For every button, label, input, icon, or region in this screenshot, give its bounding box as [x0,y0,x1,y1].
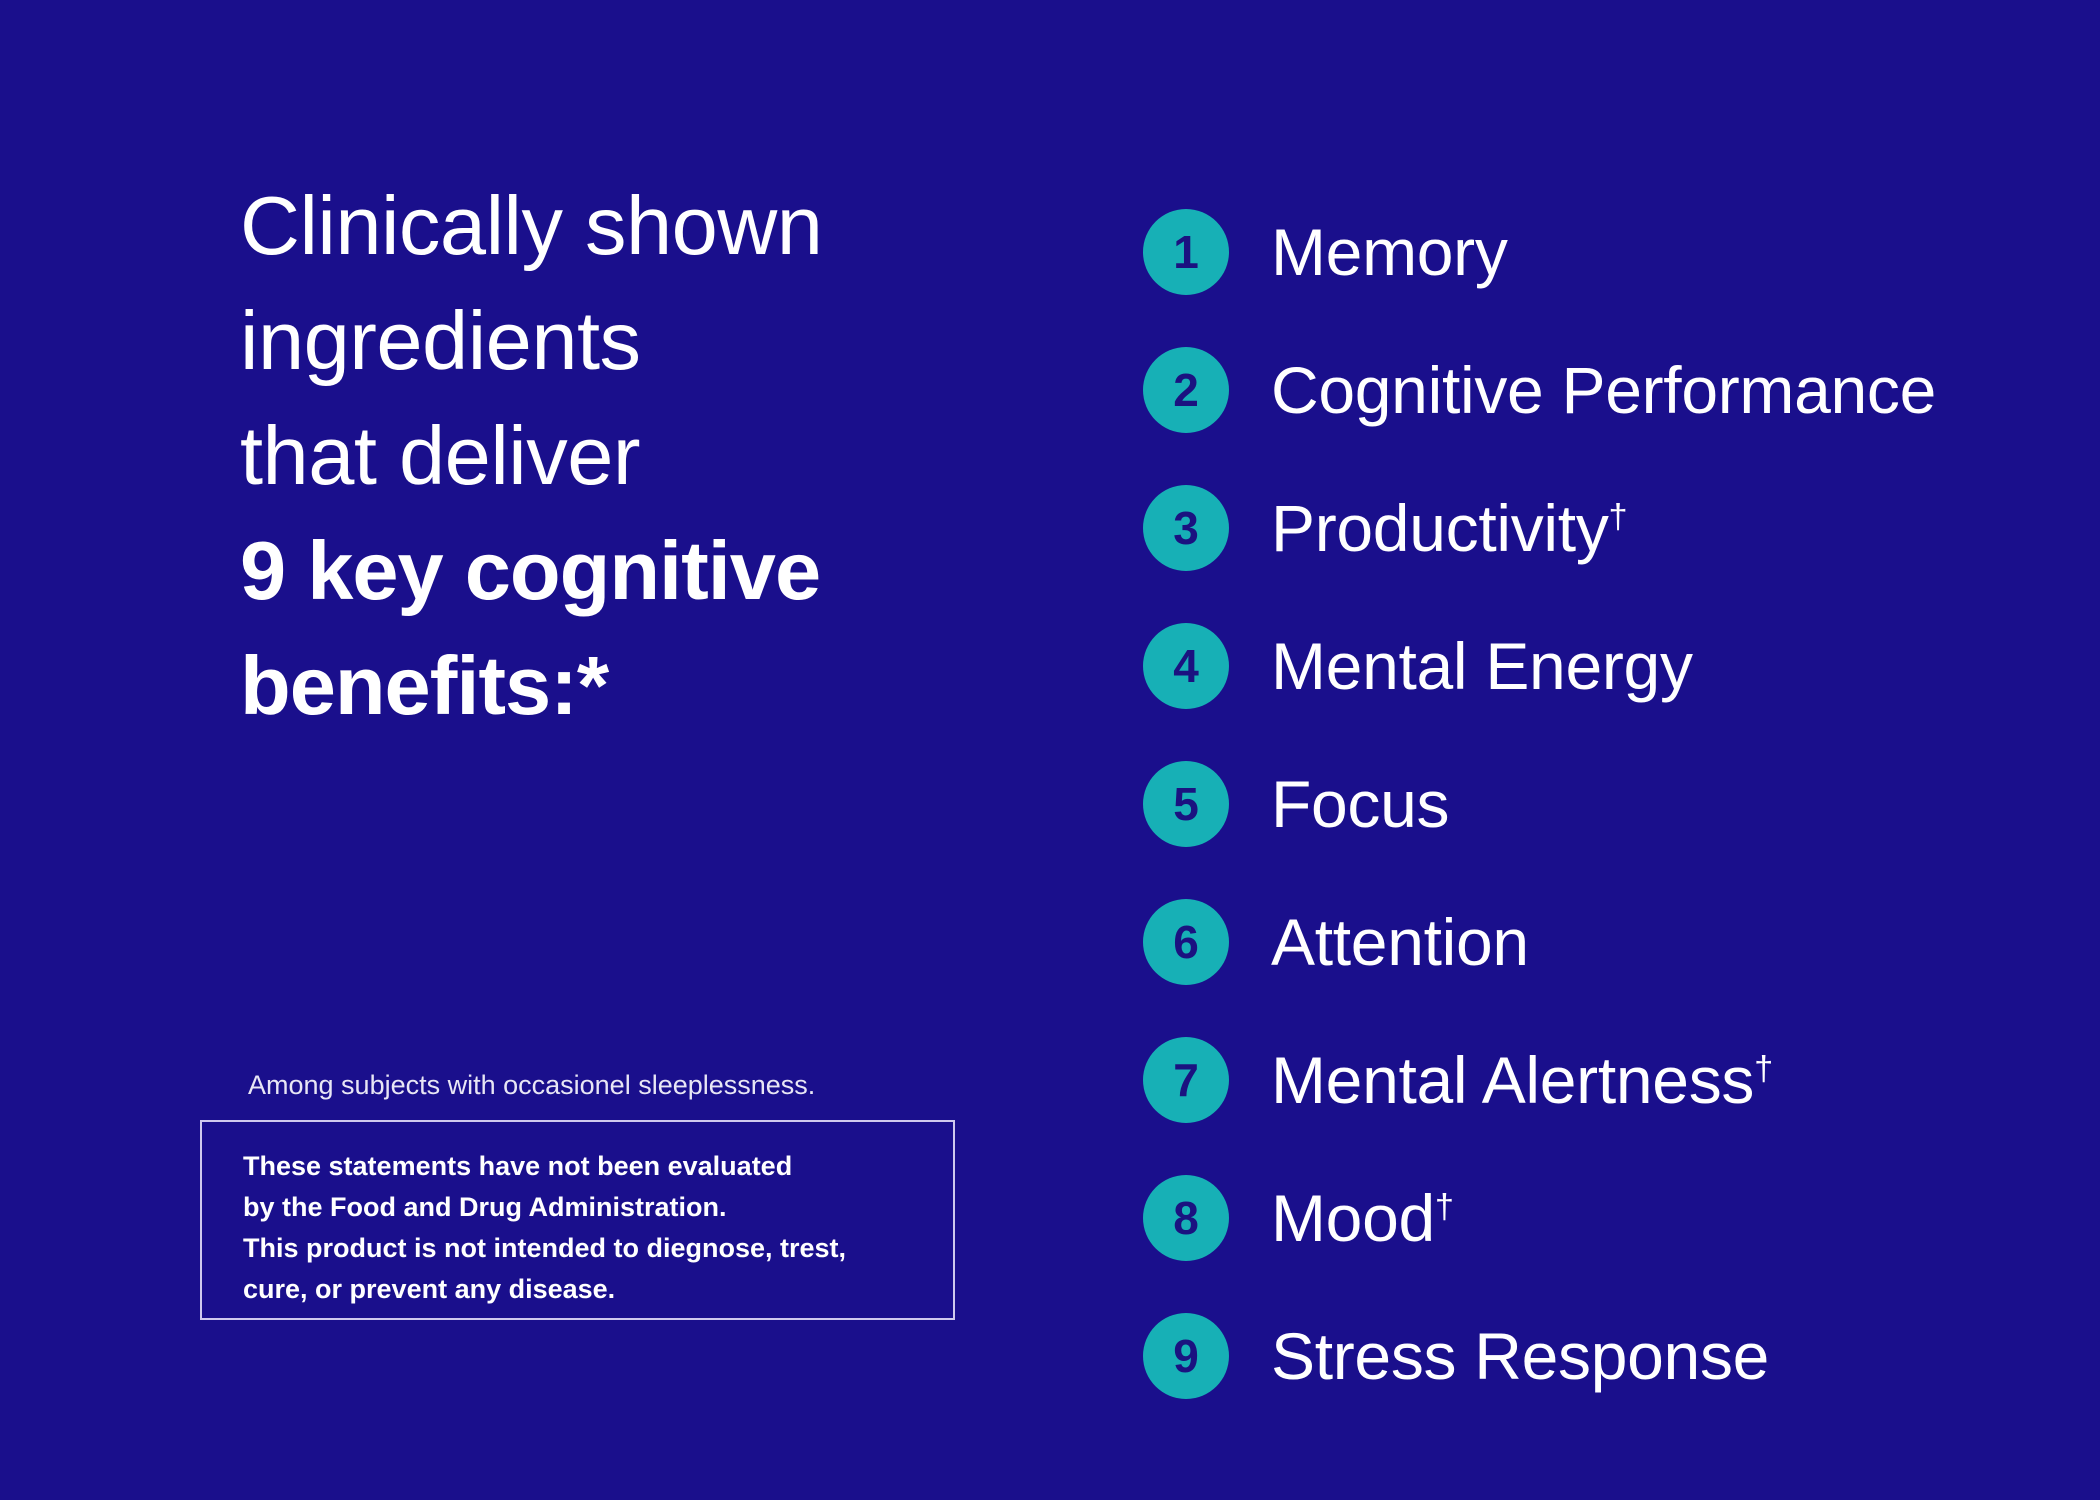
footnote-caption: Among subjects with occasionel sleepless… [248,1068,815,1102]
dagger-mark: † [1609,498,1628,536]
benefit-label-text: Mental Energy [1271,629,1693,703]
list-item: 7 Mental Alertness† [1143,1011,2100,1149]
disclaimer-line-2: by the Food and Drug Administration. [243,1187,846,1228]
benefit-label-text: Productivity [1271,491,1609,565]
number-badge-icon: 4 [1143,623,1229,709]
benefit-label-text: Stress Response [1271,1319,1769,1393]
headline-line-5: benefits:* [240,628,1000,743]
list-item: 9 Stress Response [1143,1287,2100,1425]
benefit-label: Mental Energy [1271,633,1693,699]
list-item: 3 Productivity† [1143,459,2100,597]
dagger-mark: † [1435,1188,1454,1226]
list-item: 5 Focus [1143,735,2100,873]
benefit-label: Attention [1271,909,1529,975]
headline-line-3: that deliver [240,398,1000,513]
list-item: 8 Mood† [1143,1149,2100,1287]
number-badge-icon: 8 [1143,1175,1229,1261]
dagger-mark: † [1754,1050,1773,1088]
number-badge-icon: 7 [1143,1037,1229,1123]
list-item: 6 Attention [1143,873,2100,1011]
number-badge-icon: 2 [1143,347,1229,433]
benefit-label-text: Focus [1271,767,1449,841]
benefit-label: Mental Alertness† [1271,1047,1773,1113]
benefit-label-text: Memory [1271,215,1508,289]
benefit-label-text: Mood [1271,1181,1435,1255]
headline-line-4: 9 key cognitive [240,513,1000,628]
benefit-label: Mood† [1271,1185,1454,1251]
slide-canvas: Clinically shown ingredients that delive… [0,0,2100,1500]
number-badge-icon: 5 [1143,761,1229,847]
disclaimer-line-4: cure, or prevent any disease. [243,1269,846,1310]
page-title: Clinically shown ingredients that delive… [240,168,1000,743]
benefit-label-text: Attention [1271,905,1529,979]
fda-disclaimer-text: These statements have not been evaluated… [243,1146,846,1310]
headline-line-2: ingredients [240,283,1000,398]
number-badge-icon: 9 [1143,1313,1229,1399]
disclaimer-line-1: These statements have not been evaluated [243,1146,846,1187]
headline-line-1: Clinically shown [240,168,1000,283]
benefit-label: Memory [1271,219,1508,285]
benefit-label: Focus [1271,771,1449,837]
list-item: 4 Mental Energy [1143,597,2100,735]
number-badge-icon: 6 [1143,899,1229,985]
benefit-label: Stress Response [1271,1323,1769,1389]
benefit-label-text: Mental Alertness [1271,1043,1754,1117]
fda-disclaimer-box: These statements have not been evaluated… [200,1120,955,1320]
benefits-list: 1 Memory 2 Cognitive Performance 3 Produ… [1143,183,2100,1425]
headline-block: Clinically shown ingredients that delive… [240,168,1000,743]
number-badge-icon: 1 [1143,209,1229,295]
benefit-label: Productivity† [1271,495,1627,561]
benefit-label-text: Cognitive Performance [1271,353,1936,427]
disclaimer-line-3: This product is not intended to diegnose… [243,1228,846,1269]
list-item: 2 Cognitive Performance [1143,321,2100,459]
number-badge-icon: 3 [1143,485,1229,571]
list-item: 1 Memory [1143,183,2100,321]
benefit-label: Cognitive Performance [1271,357,1936,423]
